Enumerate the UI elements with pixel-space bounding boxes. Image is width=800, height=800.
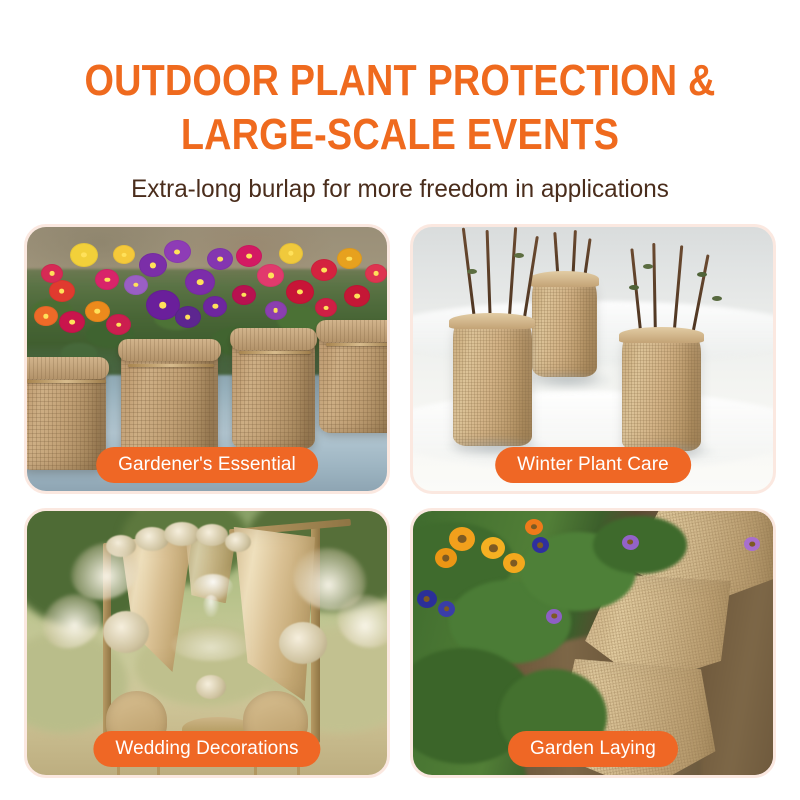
burlap-wrap-back [532,277,597,377]
panel-caption-winter-plant-care: Winter Plant Care [495,447,691,483]
headline-line-2: LARGE-SCALE EVENTS [56,108,744,162]
chandelier-drop [203,595,219,617]
bouquet-right [279,622,327,664]
feature-panel-grid: Gardener's Essential [24,224,776,778]
panel-gardeners-essential[interactable]: Gardener's Essential [24,224,390,494]
pampas-back [171,627,251,661]
panel-wedding-decorations[interactable]: Wedding Decorations [24,508,390,778]
panel-garden-laying[interactable]: Garden Laying [410,508,776,778]
panel-winter-plant-care[interactable]: Winter Plant Care [410,224,776,494]
bouquet-left [103,611,149,653]
header: OUTDOOR PLANT PROTECTION & LARGE-SCALE E… [0,0,800,204]
panel-caption-wedding-decorations: Wedding Decorations [93,731,320,767]
panel-caption-gardeners-essential: Gardener's Essential [96,447,318,483]
panel-caption-garden-laying: Garden Laying [508,731,678,767]
table-flowers [196,675,226,699]
headline-line-1: OUTDOOR PLANT PROTECTION & [56,54,744,108]
marketing-infographic: OUTDOOR PLANT PROTECTION & LARGE-SCALE E… [0,0,800,800]
subtitle: Extra-long burlap for more freedom in ap… [12,174,788,204]
burlap-wrap-right [622,333,701,452]
burlap-wrap-left [453,319,532,446]
